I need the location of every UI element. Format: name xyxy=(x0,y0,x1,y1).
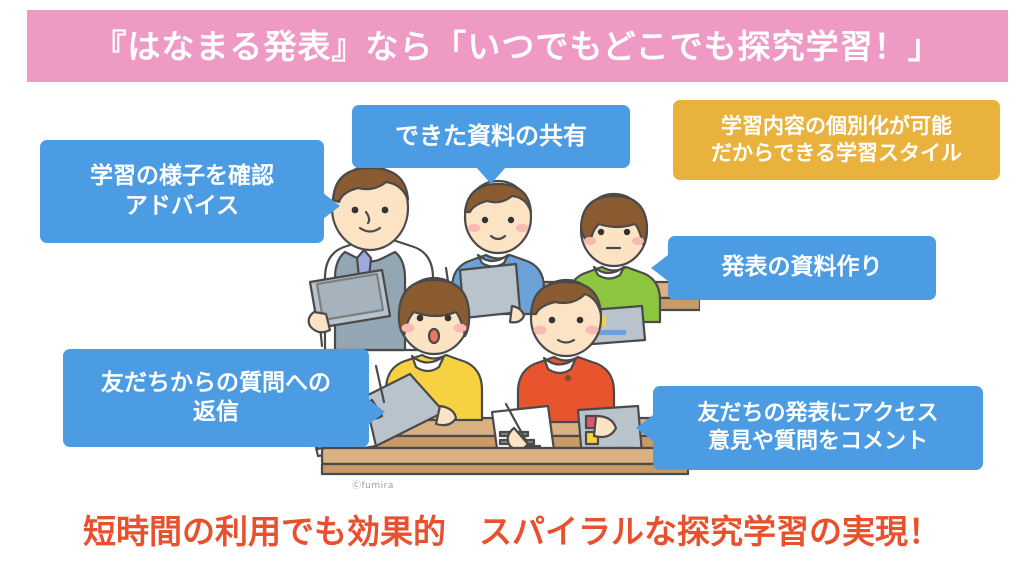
callout-material-creation-tail-icon xyxy=(651,255,668,281)
callout-individual-learning[interactable]: 学習内容の個別化が可能 だからできる学習スタイル xyxy=(673,100,1000,180)
callout-share-label: できた資料の共有 xyxy=(395,121,587,152)
callout-reply-label: 友だちからの質問への 返信 xyxy=(101,369,331,428)
callout-share-tail-icon xyxy=(476,167,506,184)
callout-share[interactable]: できた資料の共有 xyxy=(352,105,630,168)
callout-material-creation[interactable]: 発表の資料作り xyxy=(668,236,936,300)
callout-advice-label: 学習の様子を確認 アドバイス xyxy=(90,162,274,221)
callout-reply-tail-icon xyxy=(368,399,385,425)
page-title: 『はなまる発表』なら「いつでもどこでも探究学習！」 xyxy=(93,30,941,63)
footer-tagline: 短時間の利用でも効果的 スパイラルな探究学習の実現！ xyxy=(0,500,1024,562)
callout-reply[interactable]: 友だちからの質問への 返信 xyxy=(63,349,369,447)
callout-access[interactable]: 友だちの発表にアクセス 意見や質問をコメント xyxy=(653,386,983,470)
callout-individual-learning-label: 学習内容の個別化が可能 だからできる学習スタイル xyxy=(711,113,962,167)
slide-canvas: 『はなまる発表』なら「いつでもどこでも探究学習！」 .ol{stroke:#4a… xyxy=(0,0,1024,576)
callout-access-tail-icon xyxy=(636,415,653,441)
callout-access-label: 友だちの発表にアクセス 意見や質問をコメント xyxy=(698,400,939,456)
callout-material-creation-label: 発表の資料作り xyxy=(722,253,883,282)
watermark: Ⓒfumira xyxy=(352,478,394,491)
callout-advice-tail-icon xyxy=(323,193,340,219)
desk-front-ledge xyxy=(322,448,688,474)
footer-tagline-text: 短時間の利用でも効果的 スパイラルな探究学習の実現！ xyxy=(83,515,941,548)
title-banner: 『はなまる発表』なら「いつでもどこでも探究学習！」 xyxy=(27,10,1008,82)
callout-advice[interactable]: 学習の様子を確認 アドバイス xyxy=(40,140,324,243)
